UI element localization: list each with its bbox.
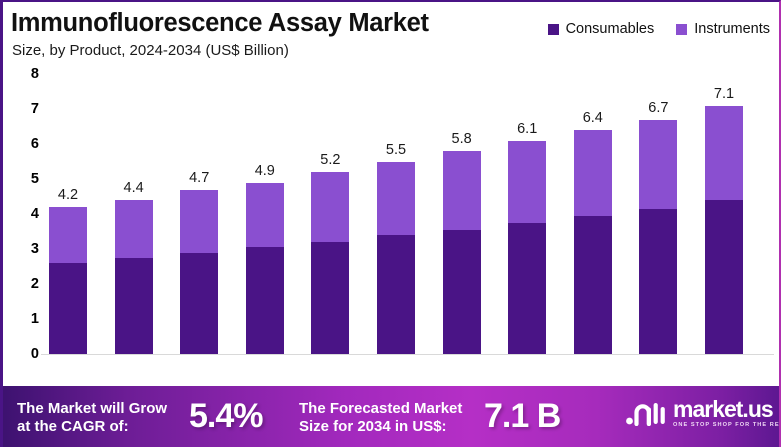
- bar-value-label: 7.1: [714, 86, 734, 102]
- bar-segment-instruments[interactable]: [639, 120, 677, 209]
- bar-value-label: 4.2: [58, 187, 78, 203]
- logo-tagline: ONE STOP SHOP FOR THE REPORTS: [673, 422, 781, 428]
- bar-value-label: 5.2: [320, 152, 340, 168]
- bar-segment-instruments[interactable]: [443, 151, 481, 230]
- legend-item-label: Instruments: [694, 21, 770, 37]
- bar-value-label: 4.9: [255, 163, 275, 179]
- bar-segment-consumables[interactable]: [705, 200, 743, 354]
- bar-value-label: 6.1: [517, 121, 537, 137]
- bar-segment-consumables[interactable]: [443, 230, 481, 354]
- bar-segment-consumables[interactable]: [639, 209, 677, 354]
- bar-segment-instruments[interactable]: [574, 130, 612, 216]
- bar-group[interactable]: 5.82030: [443, 151, 481, 354]
- bar-value-label: 5.5: [386, 142, 406, 158]
- bar-segment-consumables[interactable]: [574, 216, 612, 354]
- bar-segment-instruments[interactable]: [508, 141, 546, 223]
- y-axis-tick-label: 3: [25, 241, 39, 257]
- y-axis-tick-label: 4: [25, 206, 39, 222]
- bar-segment-instruments[interactable]: [705, 106, 743, 201]
- bar-segment-consumables[interactable]: [246, 247, 284, 354]
- bar-group[interactable]: 6.72033: [639, 120, 677, 355]
- bar-group[interactable]: 4.72026: [180, 190, 218, 355]
- bar-segment-consumables[interactable]: [49, 263, 87, 354]
- legend-item-label: Consumables: [566, 21, 655, 37]
- legend-item[interactable]: Consumables: [548, 21, 655, 37]
- chart-subtitle: Size, by Product, 2024-2034 (US$ Billion…: [12, 42, 289, 59]
- bar-segment-instruments[interactable]: [246, 183, 284, 248]
- bar-segment-instruments[interactable]: [377, 162, 415, 236]
- legend-item[interactable]: Instruments: [676, 21, 770, 37]
- cagr-value: 5.4%: [189, 399, 263, 433]
- bar-segment-instruments[interactable]: [311, 172, 349, 242]
- bar-group[interactable]: 7.12034: [705, 106, 743, 355]
- y-axis-tick-label: 0: [25, 346, 39, 362]
- bar-segment-consumables[interactable]: [115, 258, 153, 354]
- chart-header: Immunofluorescence Assay Market Size, by…: [3, 2, 781, 64]
- bar-segment-instruments[interactable]: [180, 190, 218, 253]
- bar-value-label: 4.4: [124, 180, 144, 196]
- y-axis-tick-label: 2: [25, 276, 39, 292]
- forecast-size-value: 7.1 B: [484, 399, 560, 433]
- legend-swatch-icon: [676, 24, 687, 35]
- market-us-logo[interactable]: market.us ONE STOP SHOP FOR THE REPORTS: [625, 398, 781, 428]
- x-axis-line: [41, 354, 774, 355]
- bar-value-label: 6.4: [583, 110, 603, 126]
- bar-group[interactable]: 4.92027: [246, 183, 284, 355]
- bar-group[interactable]: 6.42032: [574, 130, 612, 354]
- market-report-chart-card: Immunofluorescence Assay Market Size, by…: [0, 0, 781, 447]
- bar-segment-consumables[interactable]: [377, 235, 415, 354]
- y-axis-tick-label: 6: [25, 136, 39, 152]
- logo-name: market.us: [673, 398, 781, 421]
- y-axis-tick-label: 1: [25, 311, 39, 327]
- legend-swatch-icon: [548, 24, 559, 35]
- bar-segment-instruments[interactable]: [49, 207, 87, 263]
- y-axis-tick-label: 8: [25, 66, 39, 82]
- bar-group[interactable]: 5.52029: [377, 162, 415, 355]
- page-title: Immunofluorescence Assay Market: [11, 9, 429, 38]
- logo-text: market.us ONE STOP SHOP FOR THE REPORTS: [673, 398, 781, 428]
- bar-group[interactable]: 5.22028: [311, 172, 349, 354]
- bar-segment-consumables[interactable]: [508, 223, 546, 354]
- y-axis-tick-label: 5: [25, 171, 39, 187]
- bar-value-label: 6.7: [648, 100, 668, 116]
- chart-plot-area: 0123456784.220244.420254.720264.920275.2…: [3, 64, 781, 387]
- forecast-size-caption: The Forecasted Market Size for 2034 in U…: [299, 400, 462, 436]
- bar-value-label: 4.7: [189, 170, 209, 186]
- bar-segment-consumables[interactable]: [311, 242, 349, 354]
- bar-segment-instruments[interactable]: [115, 200, 153, 258]
- bar-group[interactable]: 4.22024: [49, 207, 87, 354]
- bar-value-label: 5.8: [452, 131, 472, 147]
- y-axis-tick-label: 7: [25, 101, 39, 117]
- cagr-caption: The Market will Grow at the CAGR of:: [17, 400, 167, 436]
- bar-group[interactable]: 4.42025: [115, 200, 153, 354]
- chart-legend: ConsumablesInstruments: [548, 21, 770, 37]
- market-us-logo-icon: [625, 400, 667, 426]
- footer-banner: The Market will Grow at the CAGR of: 5.4…: [3, 386, 781, 447]
- bar-group[interactable]: 6.12031: [508, 141, 546, 355]
- bar-segment-consumables[interactable]: [180, 253, 218, 355]
